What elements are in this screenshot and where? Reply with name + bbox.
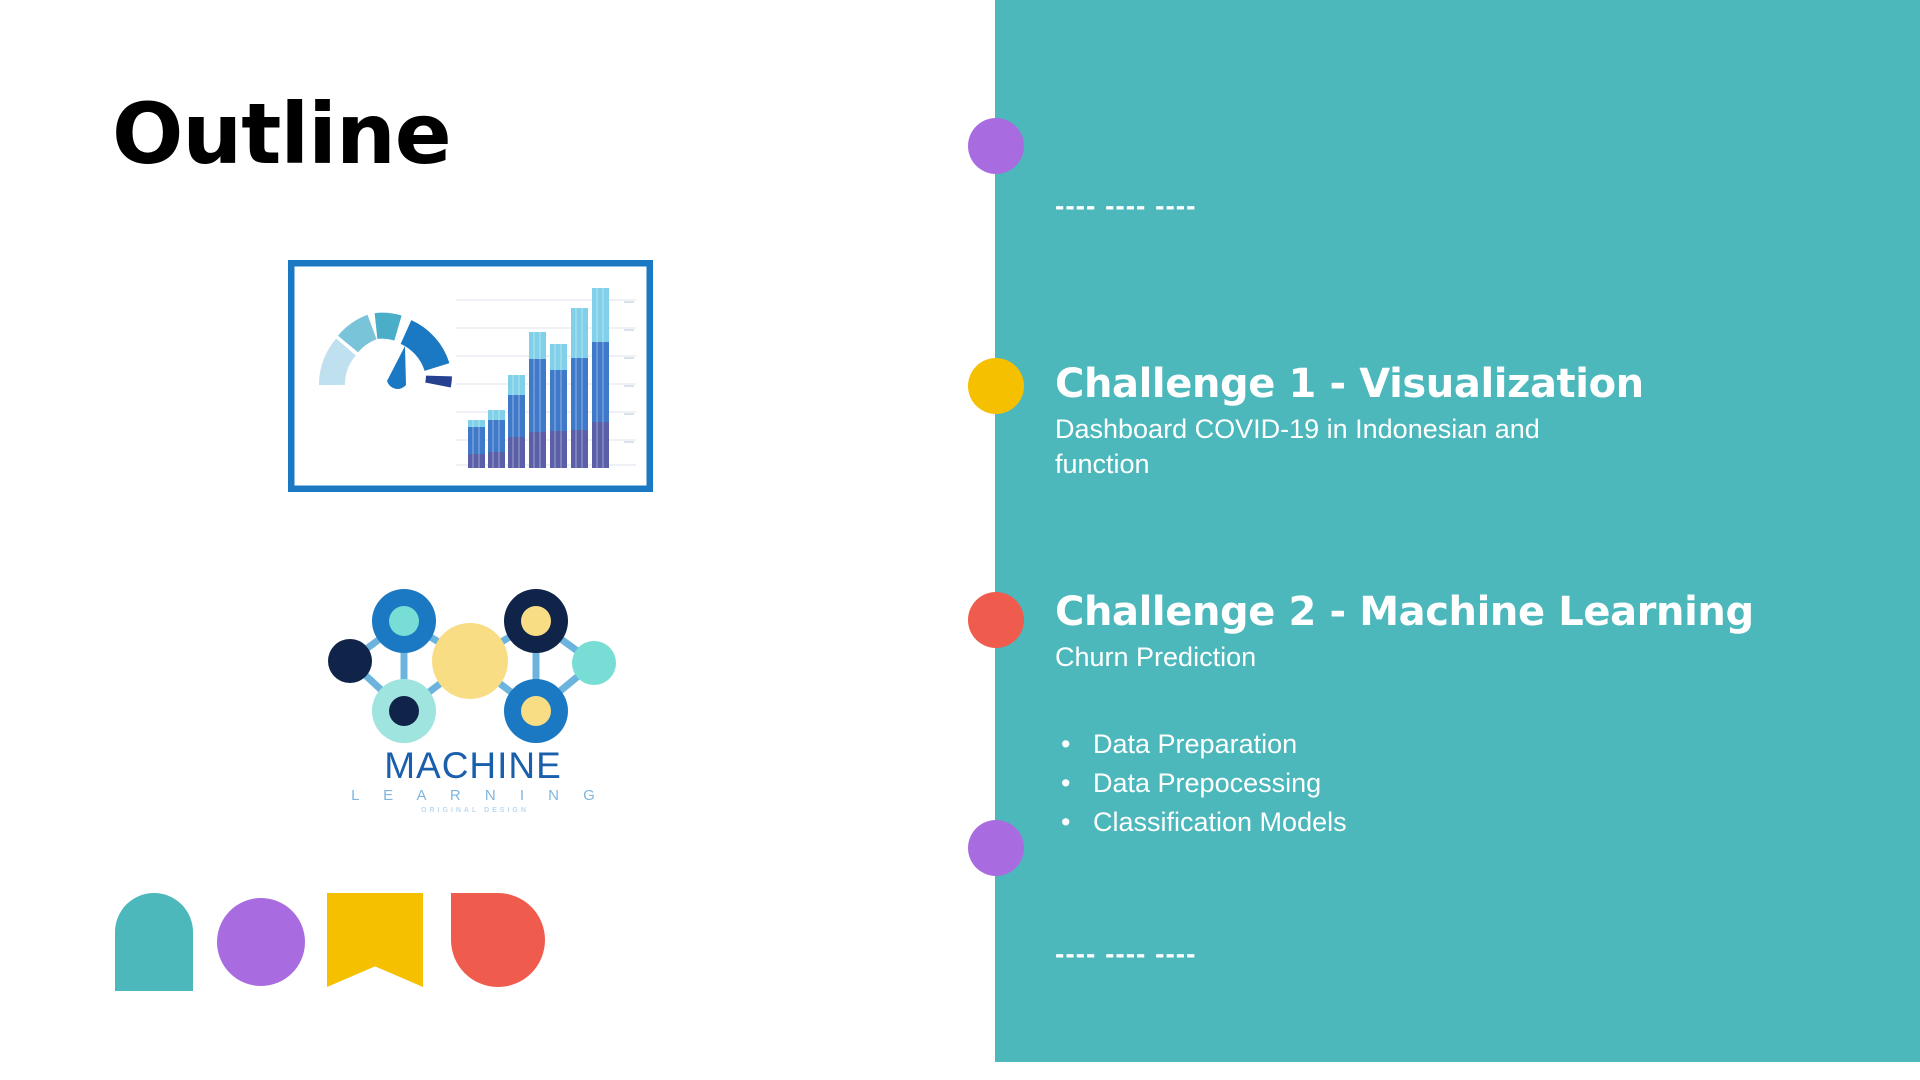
teardrop-shape — [451, 893, 545, 987]
bookmark-shape — [327, 893, 423, 987]
list-item-label: Data Preparation — [1093, 729, 1297, 759]
neural-network-icon — [318, 565, 628, 750]
wordmark-machine: MACHINE — [318, 747, 628, 784]
timeline-marker-challenge-2 — [968, 592, 1024, 648]
challenge-1-entry: Challenge 1 - Visualization Dashboard CO… — [1055, 362, 1644, 483]
challenge-2-heading: Challenge 2 - Machine Learning — [1055, 590, 1754, 635]
machine-learning-logo: MACHINE L E A R N I N G ORIGINAL DESIGN — [318, 565, 628, 830]
timeline-marker-top — [968, 118, 1024, 174]
dashboard-chart-icon — [288, 260, 653, 492]
divider-rule-top: ---- ---- ---- — [1055, 190, 1196, 222]
bullet-dot-icon: • — [1061, 767, 1070, 800]
list-item: • Data Preparation — [1055, 728, 1347, 761]
challenge-2-entry: Challenge 2 - Machine Learning Churn Pre… — [1055, 590, 1754, 675]
circle-shape — [217, 898, 305, 986]
challenge-2-subtitle: Churn Prediction — [1055, 640, 1615, 676]
list-item: • Classification Models — [1055, 806, 1347, 839]
right-teal-panel — [995, 0, 1920, 1062]
bullet-dot-icon: • — [1061, 728, 1070, 761]
timeline-marker-challenge-1 — [968, 358, 1024, 414]
wordmark-tagline: ORIGINAL DESIGN — [318, 807, 628, 814]
list-item: • Data Prepocessing — [1055, 767, 1347, 800]
wordmark-learning: L E A R N I N G — [318, 788, 628, 803]
arch-shape — [115, 893, 193, 991]
list-item-label: Classification Models — [1093, 807, 1347, 837]
page-title: Outline — [112, 90, 451, 178]
decorative-shape-row — [115, 893, 535, 998]
timeline-marker-bottom — [968, 820, 1024, 876]
machine-learning-wordmark: MACHINE L E A R N I N G ORIGINAL DESIGN — [318, 747, 628, 814]
challenge-2-bullet-list: • Data Preparation • Data Prepocessing •… — [1055, 728, 1347, 845]
divider-rule-bottom: ---- ---- ---- — [1055, 938, 1196, 970]
bullet-dot-icon: • — [1061, 806, 1070, 839]
challenge-1-subtitle: Dashboard COVID-19 in Indonesian and fun… — [1055, 412, 1615, 483]
slide-canvas: Outline — [0, 0, 1920, 1080]
challenge-1-heading: Challenge 1 - Visualization — [1055, 362, 1644, 407]
list-item-label: Data Prepocessing — [1093, 768, 1321, 798]
